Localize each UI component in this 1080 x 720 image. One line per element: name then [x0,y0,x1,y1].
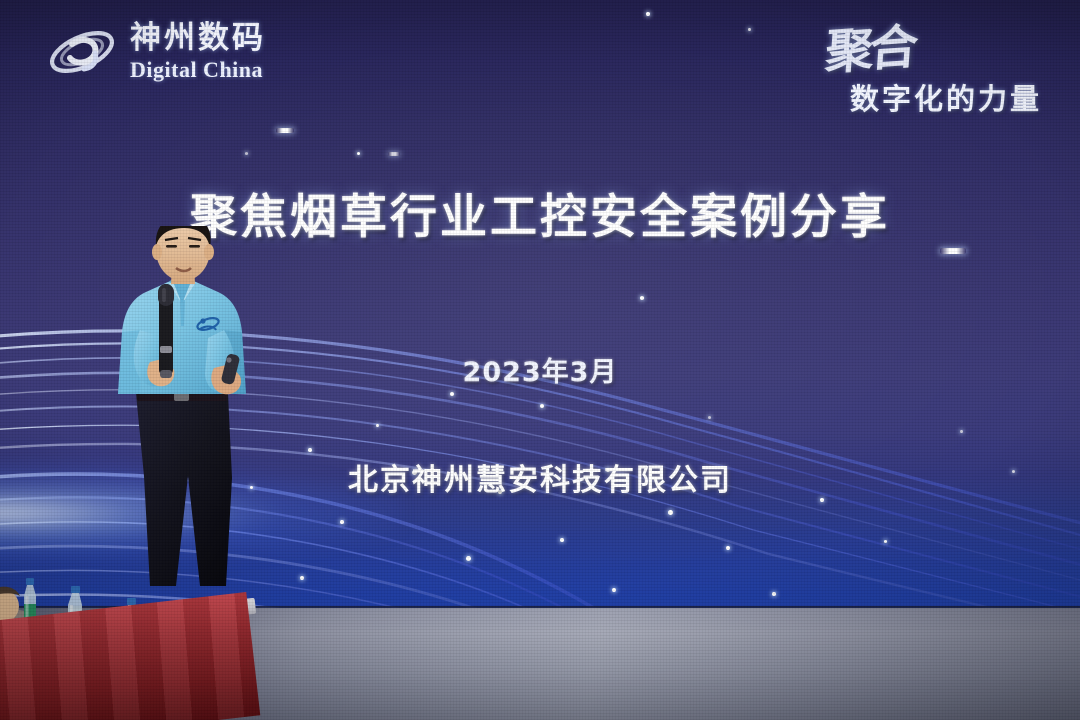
swirl-galaxy-icon [46,22,118,82]
head [156,226,210,281]
brand-wordmark: 神州数码 Digital China [130,23,266,81]
event-logo-calligraphy: 聚合 [823,7,917,83]
handheld-microphone-icon [158,284,174,378]
brand-name-cn: 神州数码 [130,23,266,54]
digital-china-logo: 神州数码 Digital China [46,22,266,82]
conference-stage-photo: 聚焦烟草行业工控安全案例分享 2023年3月 北京神州慧安科技有限公司 神州数码… [0,0,1080,720]
event-logo-subtitle: 数字化的力量 [850,76,1042,118]
trousers [136,394,232,586]
brand-name-en: Digital China [130,59,266,81]
head-table [0,566,275,720]
event-logo: 聚合 数字化的力量 [808,14,1058,114]
